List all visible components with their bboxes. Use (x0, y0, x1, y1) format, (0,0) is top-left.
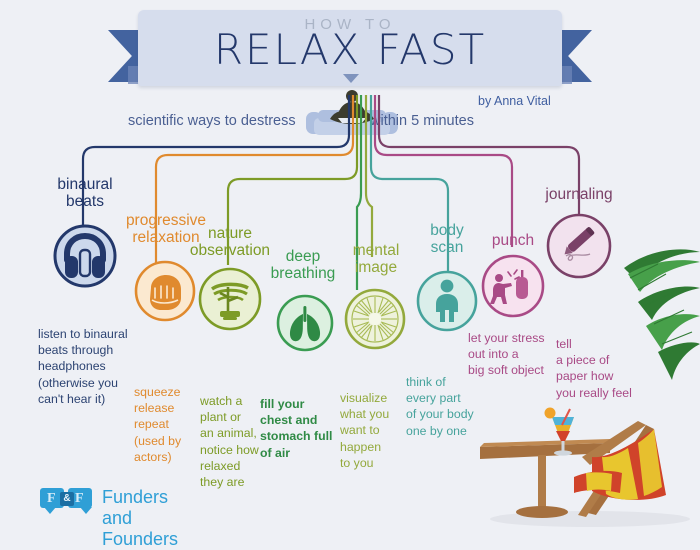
infographic-canvas: HOW TO RELAX FAST by Anna Vital scientif… (0, 0, 700, 528)
logo-letter-left: F (47, 491, 56, 507)
standing-person-icon (416, 270, 478, 332)
logo-ampersand: & (60, 492, 74, 506)
fist-icon (134, 260, 196, 322)
line-journaling (379, 95, 579, 223)
sunburst-mandala-icon (344, 288, 406, 350)
beach-deck-chair (574, 421, 666, 517)
palm-fronds-decoration (600, 240, 700, 420)
bonsai-tree-icon (198, 267, 262, 331)
punching-bag-icon (481, 254, 545, 318)
logo-letter-right: F (75, 491, 84, 507)
method-title: punch (472, 232, 554, 249)
title-banner: HOW TO RELAX FAST (0, 4, 700, 100)
lungs-icon (276, 294, 334, 352)
down-arrow-icon (343, 74, 359, 83)
brand-name: Funders and Founders (102, 487, 178, 550)
page-title: RELAX FAST (138, 27, 562, 72)
method-title: journaling (532, 186, 626, 203)
beach-scene-decoration (470, 395, 700, 528)
method-title: binaural beats (30, 176, 140, 211)
